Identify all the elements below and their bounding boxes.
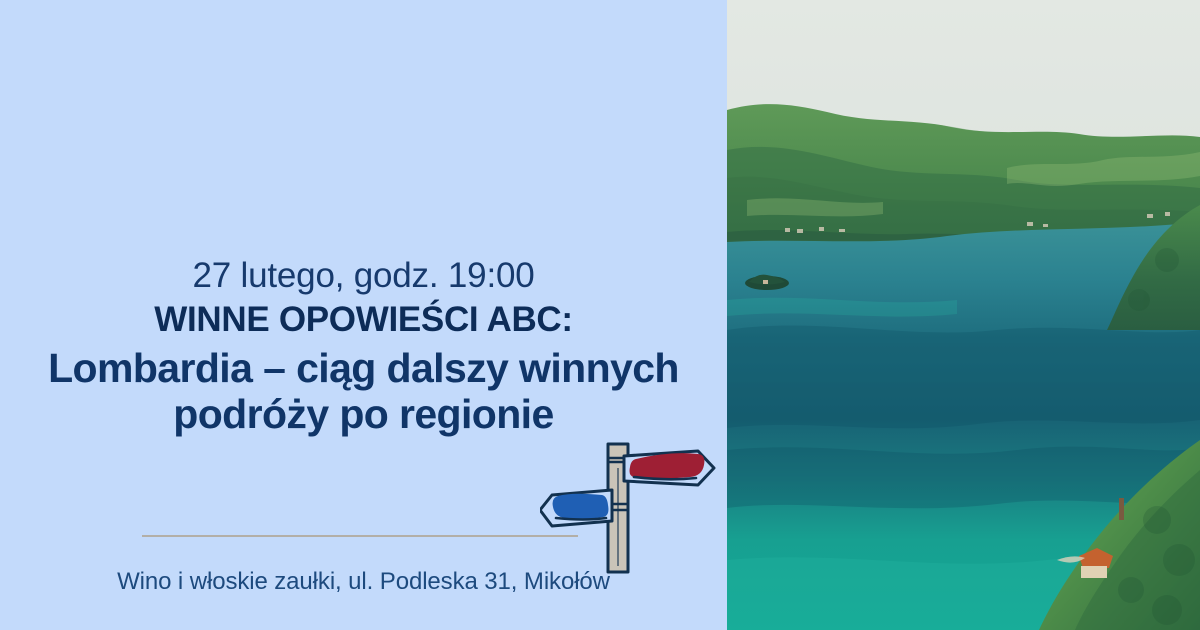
event-text-block: 27 lutego, godz. 19:00 WINNE OPOWIEŚCI A… bbox=[0, 258, 727, 438]
event-banner: i włoskie zaułki WINO 27 lutego, godz. 1… bbox=[0, 0, 1200, 630]
event-subtitle-line-2: podróży po regionie bbox=[173, 391, 553, 437]
event-title: WINNE OPOWIEŚCI ABC: bbox=[0, 302, 727, 339]
event-date: 27 lutego, godz. 19:00 bbox=[0, 258, 727, 293]
event-subtitle-line-1: Lombardia – ciąg dalszy winnych bbox=[48, 345, 679, 391]
signpost-illustration bbox=[540, 440, 725, 580]
event-subtitle: Lombardia – ciąg dalszy winnych podróży … bbox=[0, 345, 727, 438]
lake-landscape-photo bbox=[727, 0, 1200, 630]
divider-rule bbox=[142, 535, 578, 537]
